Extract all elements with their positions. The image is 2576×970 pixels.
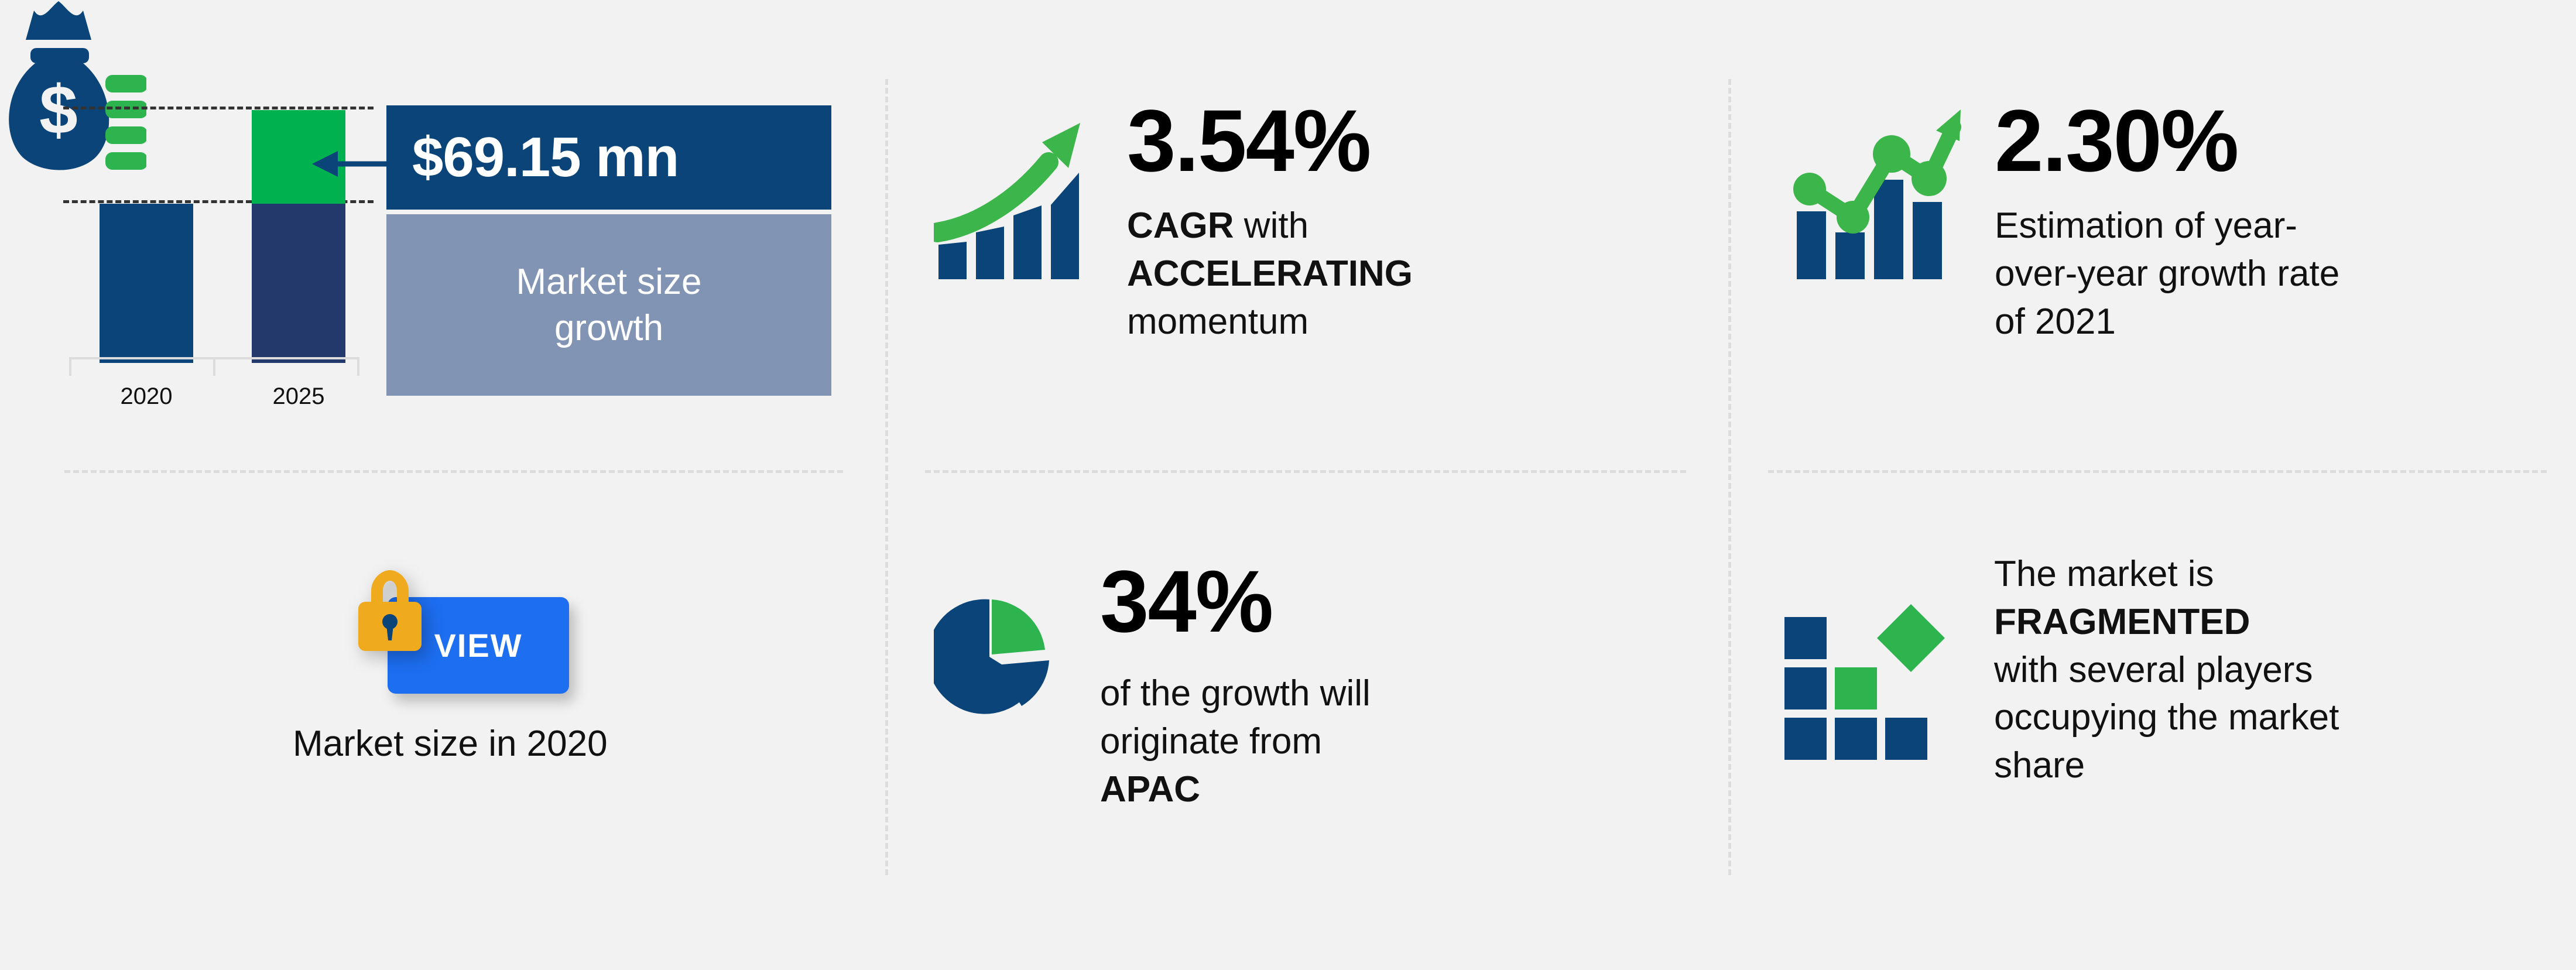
market-size-2020-label: Market size in 2020 xyxy=(293,723,608,765)
yoy-value: 2.30% xyxy=(1995,97,2339,184)
infographic-board: 2020 2025 $69.15 mn Market size growth 3 xyxy=(0,0,2576,970)
horizontal-divider-col2 xyxy=(925,470,1686,473)
axis-tick-end xyxy=(357,357,359,376)
callout-label-line1: Market size xyxy=(516,259,702,305)
apac-line2: originate from xyxy=(1100,718,1371,766)
yoy-text-block: 2.30% Estimation of year- over-year grow… xyxy=(1995,97,2339,345)
apac-line1: of the growth will xyxy=(1100,670,1371,718)
cagr-line1-rest: with xyxy=(1234,205,1308,246)
fragmentation-line5: share xyxy=(1994,742,2339,790)
callout-value: $69.15 mn xyxy=(386,105,831,210)
yoy-line2: over-year growth rate xyxy=(1995,250,2339,298)
apac-value: 34% xyxy=(1100,557,1371,645)
yoy-growth-panel: 2.30% Estimation of year- over-year grow… xyxy=(1789,97,2339,345)
cagr-value: 3.54% xyxy=(1127,97,1413,184)
callout-label: Market size growth xyxy=(386,214,831,396)
market-size-callout: $69.15 mn Market size growth xyxy=(386,105,831,396)
cagr-text-block: 3.54% CAGR with ACCELERATING momentum xyxy=(1127,97,1413,345)
yoy-line3: of 2021 xyxy=(1995,298,2339,346)
callout-label-line2: growth xyxy=(554,305,663,351)
horizontal-divider-col1 xyxy=(64,470,843,473)
line-chart-bars-arrow-icon xyxy=(1789,97,1964,284)
fragmented-squares-icon xyxy=(1780,596,1955,772)
axis-tick-start xyxy=(69,357,71,376)
apac-region: APAC xyxy=(1100,769,1200,810)
callout-arrow-icon xyxy=(307,146,389,181)
fragmentation-description: The market is FRAGMENTED with several pl… xyxy=(1994,550,2339,790)
yoy-line1: Estimation of year- xyxy=(1995,202,2339,250)
pie-chart-icon xyxy=(934,591,1051,726)
fragmentation-text-block: The market is FRAGMENTED with several pl… xyxy=(1994,550,2339,790)
vertical-divider-2 xyxy=(1728,79,1731,875)
cagr-momentum-emphasis: ACCELERATING xyxy=(1127,253,1413,294)
cagr-description: CAGR with ACCELERATING momentum xyxy=(1127,202,1413,345)
fragmentation-line3: with several players xyxy=(1994,646,2339,694)
cagr-label: CAGR xyxy=(1127,205,1234,246)
fragmentation-panel: The market is FRAGMENTED with several pl… xyxy=(1780,550,2339,790)
reference-line-top xyxy=(63,107,374,109)
market-size-growth-chart: 2020 2025 xyxy=(35,88,386,416)
apac-share-panel: 34% of the growth will originate from AP… xyxy=(934,591,1371,813)
axis-tick-mid xyxy=(213,357,215,376)
bar-2025-base xyxy=(252,204,345,363)
fragmentation-line1: The market is xyxy=(1994,550,2339,598)
bar-2020 xyxy=(100,204,193,363)
x-label-2025: 2025 xyxy=(240,383,357,410)
ascending-bars-arrow-icon xyxy=(934,97,1092,284)
cagr-panel: 3.54% CAGR with ACCELERATING momentum xyxy=(934,97,1413,345)
apac-text-block: 34% of the growth will originate from AP… xyxy=(1100,557,1371,813)
yoy-description: Estimation of year- over-year growth rat… xyxy=(1995,202,2339,345)
fragmentation-line4: occupying the market xyxy=(1994,694,2339,742)
apac-description: of the growth will originate from APAC xyxy=(1100,670,1371,813)
padlock-icon xyxy=(351,568,427,664)
vertical-divider-1 xyxy=(885,79,888,875)
fragmentation-emphasis: FRAGMENTED xyxy=(1994,602,2250,642)
cagr-line3: momentum xyxy=(1127,298,1413,346)
horizontal-divider-col3 xyxy=(1768,470,2547,473)
x-label-2020: 2020 xyxy=(88,383,205,410)
